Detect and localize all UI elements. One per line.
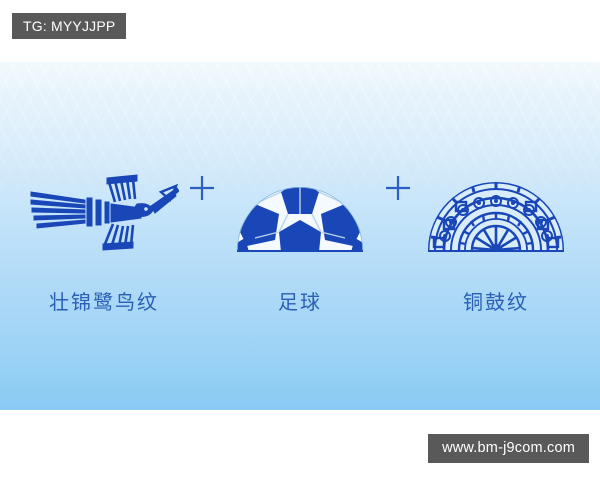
- emblem-zhuang-brocade-egret: [29, 142, 179, 252]
- label-football: 足球: [225, 290, 375, 314]
- emblem-row: [0, 142, 600, 252]
- emblem-bronze-drum: [421, 142, 571, 252]
- plus-icon: [188, 174, 216, 202]
- football-icon: [235, 174, 365, 252]
- bronze-drum-pattern-icon: [426, 174, 566, 252]
- emblem-football: [225, 142, 375, 252]
- plus-separator-2: [375, 142, 421, 252]
- egret-eye-icon: [143, 206, 148, 211]
- telegram-watermark-badge: TG: MYYJJPP: [12, 13, 126, 39]
- label-bronze-drum: 铜鼓纹: [421, 290, 571, 314]
- plus-icon: [384, 174, 412, 202]
- plus-separator-1: [179, 142, 225, 252]
- zhuang-brocade-egret-pattern-icon: [29, 148, 179, 252]
- label-zhuang-brocade-egret: 壮锦鹭鸟纹: [29, 290, 179, 314]
- emblem-card: 壮锦鹭鸟纹 足球 铜鼓纹: [0, 62, 600, 410]
- website-watermark-badge: www.bm-j9com.com: [428, 434, 589, 463]
- label-row: 壮锦鹭鸟纹 足球 铜鼓纹: [0, 290, 600, 314]
